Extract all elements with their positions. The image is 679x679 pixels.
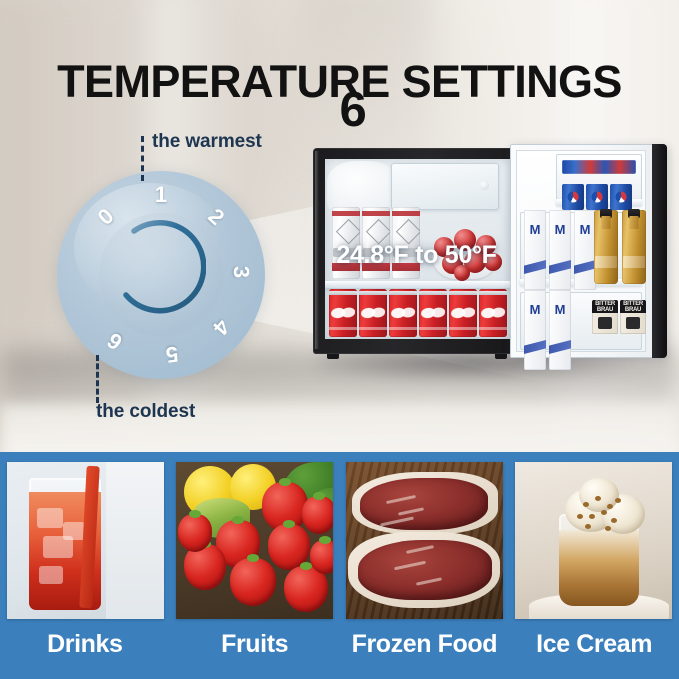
nut-topping bbox=[589, 514, 595, 519]
nut-topping bbox=[611, 518, 617, 523]
coca-cola-can bbox=[479, 289, 507, 337]
strawberry-calyx bbox=[189, 510, 201, 518]
category-label: Frozen Food bbox=[347, 624, 503, 674]
dial-arc-indicator bbox=[104, 219, 206, 321]
bottle-label bbox=[595, 256, 617, 268]
strawberry-calyx bbox=[247, 554, 259, 562]
brau-can: BITTERBRAU bbox=[620, 300, 646, 334]
coca-cola-can bbox=[419, 289, 447, 337]
strawberry-calyx bbox=[283, 520, 295, 528]
steak-upper bbox=[360, 478, 488, 530]
beer-bottle bbox=[594, 210, 618, 284]
coke-logo-wave bbox=[359, 301, 386, 325]
nut-topping bbox=[615, 498, 621, 503]
photo-backdrop bbox=[106, 462, 164, 619]
nut-topping bbox=[577, 514, 583, 519]
coke-band bbox=[419, 327, 447, 330]
pepsi-can bbox=[610, 184, 632, 210]
beer-bottle bbox=[622, 210, 646, 284]
category-card-steak[interactable] bbox=[346, 462, 503, 619]
milk-carton: M bbox=[549, 210, 571, 290]
warmest-label: the warmest bbox=[152, 131, 262, 153]
warmest-connector-line bbox=[141, 136, 144, 181]
strawberry-calyx bbox=[313, 492, 325, 500]
bottle-neck bbox=[630, 216, 639, 229]
milk-carton: M bbox=[524, 290, 546, 370]
coldest-label: the coldest bbox=[96, 401, 195, 423]
frozen-food-photo bbox=[346, 462, 503, 619]
fruits-photo bbox=[176, 462, 333, 619]
freezer-knob bbox=[480, 181, 489, 190]
coke-logo-wave bbox=[449, 301, 476, 325]
milk-band bbox=[574, 260, 596, 274]
can-top-band: BITTERBRAU bbox=[620, 300, 646, 313]
bottle-neck bbox=[602, 216, 611, 229]
category-label: Drinks bbox=[7, 624, 163, 674]
can-brand-text: BITTERBRAU bbox=[620, 301, 646, 313]
coke-band bbox=[449, 327, 477, 330]
milk-band bbox=[549, 340, 571, 354]
milk-carton: M bbox=[549, 290, 571, 370]
ice-cube bbox=[37, 508, 63, 528]
coke-logo-wave bbox=[389, 301, 416, 325]
coldest-connector-line bbox=[96, 355, 99, 403]
brau-can: BITTERBRAU bbox=[592, 300, 618, 334]
milk-carton: M bbox=[524, 210, 546, 290]
can-seal bbox=[626, 317, 640, 329]
glass-shelf bbox=[325, 281, 510, 288]
milk-carton-row: MMM bbox=[524, 210, 596, 290]
milk-brand-letter: M bbox=[580, 223, 591, 236]
coca-cola-can bbox=[329, 289, 357, 337]
drinks-photo bbox=[7, 462, 164, 619]
can-top-band: BITTERBRAU bbox=[592, 300, 618, 313]
category-card-row bbox=[0, 462, 679, 619]
bottle-label bbox=[623, 256, 645, 268]
coke-logo-wave bbox=[479, 301, 506, 325]
nut-topping bbox=[605, 526, 611, 531]
milk-band bbox=[524, 260, 546, 274]
milk-brand-letter: M bbox=[555, 303, 566, 316]
door-outer-panel bbox=[652, 144, 667, 358]
strawberry-calyx bbox=[279, 478, 291, 486]
category-strip: DrinksFruitsFrozen FoodIce Cream bbox=[0, 452, 679, 679]
ice-cube bbox=[39, 566, 63, 584]
fridge-foot bbox=[327, 354, 339, 359]
milk-brand-letter: M bbox=[530, 303, 541, 316]
temperature-range-overlay: 24.8°F to 50°F bbox=[313, 241, 520, 270]
milk-brand-letter: M bbox=[555, 223, 566, 236]
nut-topping bbox=[585, 524, 591, 529]
freezer-compartment bbox=[391, 163, 499, 210]
milk-carton-row-lower: MM bbox=[524, 290, 571, 370]
coca-cola-can bbox=[449, 289, 477, 337]
can-brand-text: BITTERBRAU bbox=[592, 301, 618, 313]
milk-band bbox=[524, 340, 546, 354]
fridge-foot bbox=[495, 354, 507, 359]
category-card-ice[interactable] bbox=[515, 462, 672, 619]
strawberry bbox=[230, 558, 276, 606]
pepsi-can bbox=[586, 184, 608, 210]
dial-number-1: 1 bbox=[155, 184, 167, 206]
beer-bottle-row bbox=[594, 210, 646, 284]
coke-band bbox=[479, 327, 507, 330]
dial-number-3: 3 bbox=[230, 266, 252, 279]
category-label: Fruits bbox=[177, 624, 333, 674]
ice-cube bbox=[63, 522, 85, 540]
category-label: Ice Cream bbox=[516, 624, 672, 674]
infographic-page: 6 TEMPERATURE SETTINGS 0123456 the warme… bbox=[0, 0, 679, 679]
milk-band bbox=[549, 260, 571, 274]
temperature-dial[interactable]: 0123456 bbox=[57, 171, 265, 379]
coke-logo-wave bbox=[329, 301, 356, 325]
fridge-door[interactable]: MMM MM BITTERBRAUBITTERBRAU bbox=[510, 144, 667, 358]
interior-backlight bbox=[327, 161, 397, 213]
coca-cola-can bbox=[389, 289, 417, 337]
strawberry-calyx bbox=[232, 516, 244, 524]
milk-brand-letter: M bbox=[530, 223, 541, 236]
category-label-row: DrinksFruitsFrozen FoodIce Cream bbox=[0, 624, 679, 674]
strawberry bbox=[302, 496, 333, 534]
coke-band bbox=[389, 327, 417, 330]
door-liner: MMM MM BITTERBRAUBITTERBRAU bbox=[516, 150, 646, 352]
coca-cola-can-row bbox=[329, 289, 507, 337]
coke-logo-wave bbox=[419, 301, 446, 325]
pepsi-carton bbox=[562, 160, 636, 174]
page-title: 6 TEMPERATURE SETTINGS bbox=[0, 56, 679, 108]
pepsi-can bbox=[562, 184, 584, 210]
nut-topping bbox=[583, 502, 589, 507]
coke-band bbox=[359, 327, 387, 330]
coca-cola-can bbox=[359, 289, 387, 337]
nut-topping bbox=[595, 496, 601, 501]
nut-topping bbox=[607, 504, 613, 509]
can-seal bbox=[598, 317, 612, 329]
caramel-sauce bbox=[559, 530, 639, 606]
brau-can-row: BITTERBRAUBITTERBRAU bbox=[592, 300, 646, 334]
strawberry bbox=[310, 540, 333, 574]
coke-band bbox=[329, 327, 357, 330]
ice-cream-photo bbox=[515, 462, 672, 619]
category-card-drink[interactable] bbox=[7, 462, 164, 619]
category-card-fruit[interactable] bbox=[176, 462, 333, 619]
pepsi-can-row bbox=[562, 184, 632, 210]
strawberry-calyx bbox=[319, 536, 331, 544]
nut-topping bbox=[601, 510, 607, 515]
milk-carton: M bbox=[574, 210, 596, 290]
